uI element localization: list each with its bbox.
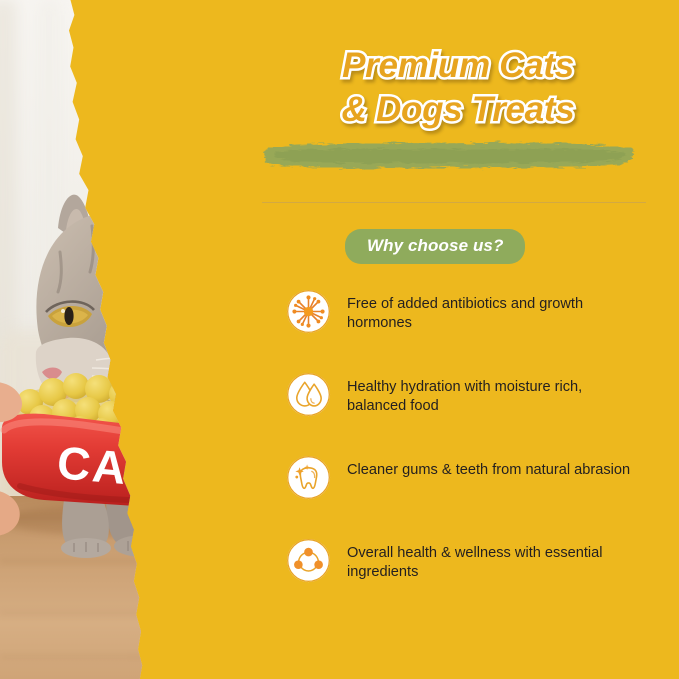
germ-bacteria-icon [286,289,331,334]
water-droplets-icon [286,372,331,417]
section-divider [262,202,646,203]
benefit-item: Free of added antibiotics and growth hor… [286,288,676,371]
content-panel: Premium Cats & Dogs Treats Why choose us… [258,0,679,679]
benefit-text: Healthy hydration with moisture rich, ba… [347,371,639,416]
benefit-item: Overall health & wellness with essential… [286,537,676,620]
promo-banner: CAT Premium Cats & Dogs Treats [0,0,679,679]
benefit-text: Cleaner gums & teeth from natural abrasi… [347,454,630,480]
why-choose-us-badge: Why choose us? [345,229,525,264]
benefits-list: Free of added antibiotics and growth hor… [286,288,676,620]
headline-line-2: & Dogs Treats [258,90,658,130]
benefit-item: Cleaner gums & teeth from natural abrasi… [286,454,676,537]
headline: Premium Cats & Dogs Treats [258,46,658,130]
bowl-label: CAT [55,436,156,496]
product-photo: CAT [0,0,300,679]
headline-line-1: Premium Cats [258,46,658,86]
molecule-nutrients-icon [286,538,331,583]
sparkling-tooth-icon [286,455,331,500]
benefit-item: Healthy hydration with moisture rich, ba… [286,371,676,454]
benefit-text: Free of added antibiotics and growth hor… [347,288,639,333]
benefit-text: Overall health & wellness with essential… [347,537,639,582]
green-brush-underline [261,138,639,172]
cat-photo-illustration: CAT [0,0,300,679]
